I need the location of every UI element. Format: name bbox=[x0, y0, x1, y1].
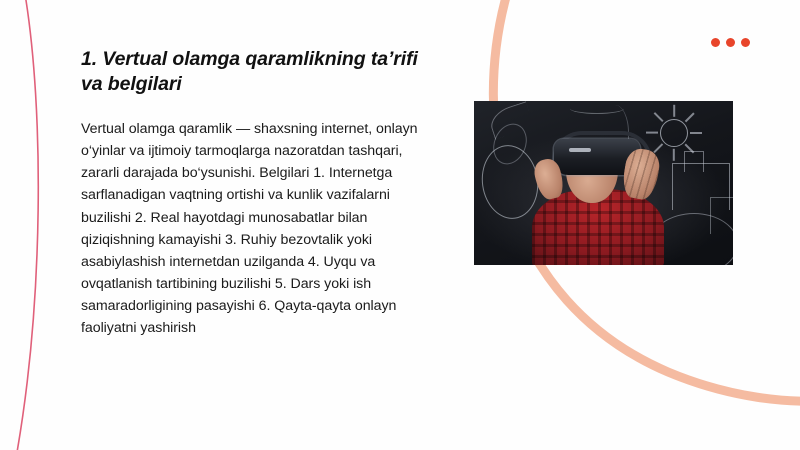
text-column: 1. Vertual olamga qaramlikning ta’rifi v… bbox=[81, 47, 433, 339]
dot-decoration-group bbox=[711, 38, 750, 47]
vr-child-photo bbox=[474, 101, 733, 265]
vr-headset-glint bbox=[569, 148, 591, 152]
decorative-dot-icon bbox=[711, 38, 720, 47]
slide-title: 1. Vertual olamga qaramlikning ta’rifi v… bbox=[81, 47, 433, 97]
decorative-dot-icon bbox=[741, 38, 750, 47]
chalk-sun-icon bbox=[660, 119, 688, 147]
photo-background bbox=[474, 101, 733, 265]
slide-body-text: Vertual olamga qaramlik — shaxsning inte… bbox=[81, 118, 433, 340]
decorative-dot-icon bbox=[726, 38, 735, 47]
left-thin-arc-line bbox=[16, 0, 38, 450]
chalk-squiggle-icon bbox=[487, 101, 534, 139]
slide-canvas: 1. Vertual olamga qaramlikning ta’rifi v… bbox=[0, 0, 800, 450]
